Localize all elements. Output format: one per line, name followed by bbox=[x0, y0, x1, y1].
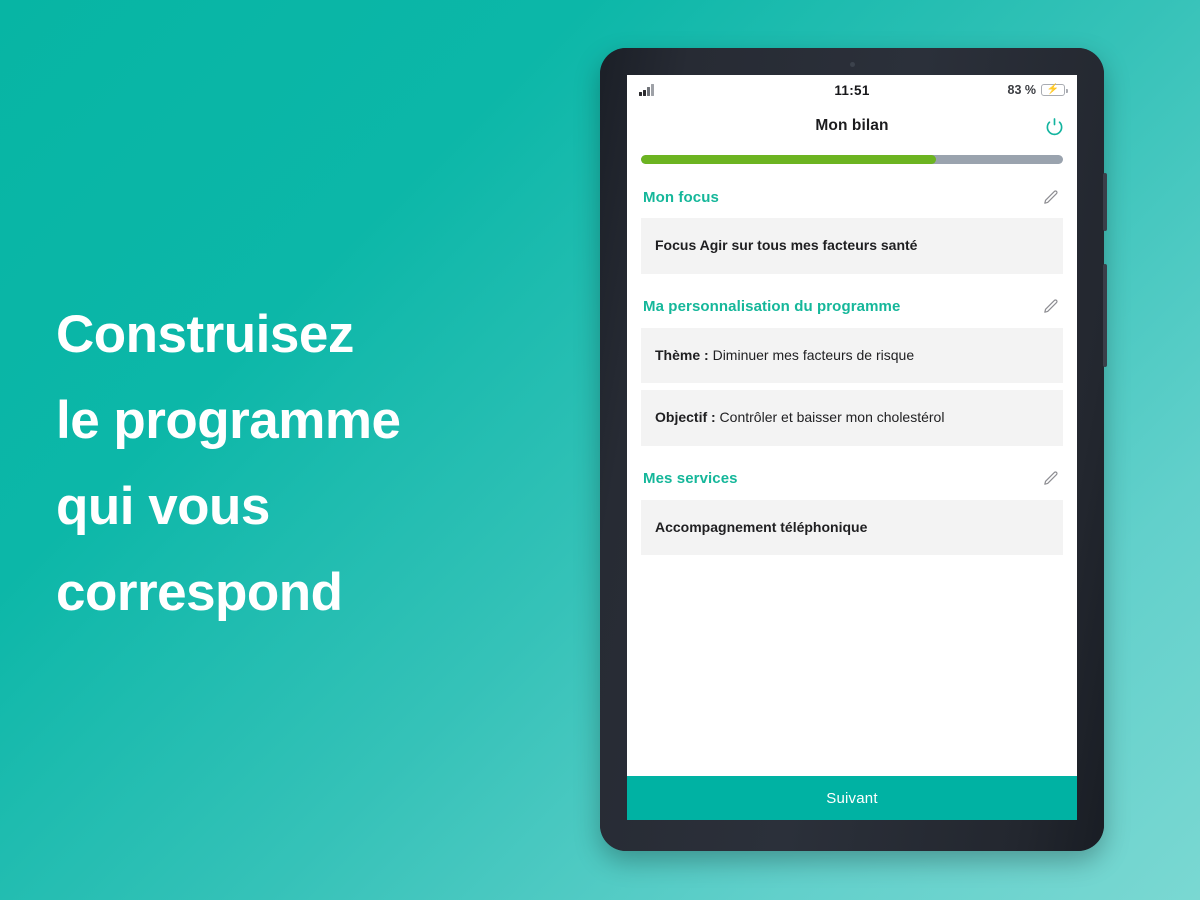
headline-line-1: Construisez bbox=[56, 292, 526, 378]
front-camera-icon bbox=[850, 62, 855, 67]
headline-line-3: qui vous bbox=[56, 464, 526, 550]
section-title: Mes services bbox=[643, 470, 738, 487]
card-objectif[interactable]: Objectif : Contrôler et baisser mon chol… bbox=[641, 390, 1063, 446]
card-label: Thème : bbox=[655, 347, 709, 363]
app-header: Mon bilan bbox=[627, 105, 1077, 147]
headline-line-4: correspond bbox=[56, 550, 526, 636]
card-text: Diminuer mes facteurs de risque bbox=[709, 347, 914, 363]
tablet-device: 11:51 83 % ⚡ Mon bilan bbox=[600, 48, 1104, 851]
section-header-mon-focus: Mon focus bbox=[641, 164, 1063, 218]
device-screen: 11:51 83 % ⚡ Mon bilan bbox=[627, 75, 1077, 820]
headline-line-2: le programme bbox=[56, 378, 526, 464]
volume-up-button[interactable] bbox=[1103, 173, 1107, 231]
page-title: Construisez le programme qui vous corres… bbox=[56, 292, 526, 636]
power-refresh-icon[interactable] bbox=[1043, 115, 1065, 137]
volume-down-button[interactable] bbox=[1103, 264, 1107, 367]
card-text: Accompagnement téléphonique bbox=[655, 519, 867, 535]
status-bar: 11:51 83 % ⚡ bbox=[627, 75, 1077, 105]
progress-fill bbox=[641, 155, 936, 164]
app-title: Mon bilan bbox=[815, 117, 888, 135]
progress-track bbox=[641, 155, 1063, 164]
battery-percent-label: 83 % bbox=[1008, 83, 1037, 97]
status-battery-area: 83 % ⚡ bbox=[1008, 83, 1066, 97]
card-service[interactable]: Accompagnement téléphonique bbox=[641, 500, 1063, 556]
pencil-icon[interactable] bbox=[1039, 186, 1061, 208]
pencil-icon[interactable] bbox=[1039, 468, 1061, 490]
card-theme[interactable]: Thème : Diminuer mes facteurs de risque bbox=[641, 328, 1063, 384]
section-title: Mon focus bbox=[643, 189, 719, 206]
suivant-button[interactable]: Suivant bbox=[627, 776, 1077, 820]
card-text: Contrôler et baisser mon cholestérol bbox=[716, 409, 945, 425]
card-text: Focus Agir sur tous mes facteurs santé bbox=[655, 237, 917, 253]
charging-bolt-icon: ⚡ bbox=[1047, 85, 1059, 95]
card-label: Objectif : bbox=[655, 409, 716, 425]
section-header-mes-services: Mes services bbox=[641, 446, 1063, 500]
pencil-icon[interactable] bbox=[1039, 296, 1061, 318]
section-header-personnalisation: Ma personnalisation du programme bbox=[641, 274, 1063, 328]
card-focus[interactable]: Focus Agir sur tous mes facteurs santé bbox=[641, 218, 1063, 274]
bilan-content: Mon focus Focus Agir sur tous mes facteu… bbox=[627, 164, 1077, 776]
progress-bar bbox=[627, 147, 1077, 164]
battery-icon: ⚡ bbox=[1041, 84, 1065, 96]
section-title: Ma personnalisation du programme bbox=[643, 298, 900, 315]
promo-screenshot: Construisez le programme qui vous corres… bbox=[0, 0, 1200, 900]
